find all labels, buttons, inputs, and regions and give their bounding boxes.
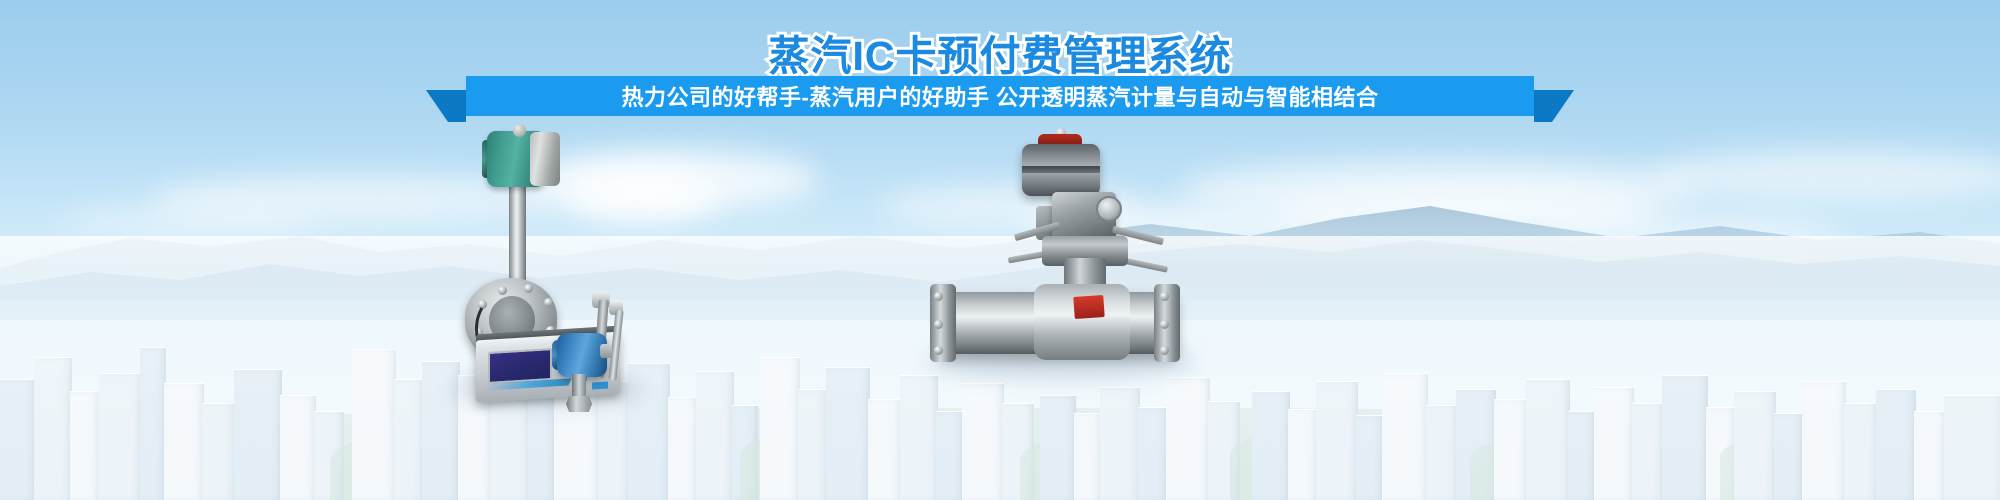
actuator-band [1022, 166, 1100, 173]
pressure-gauge [1096, 196, 1122, 222]
valve-bolt [1160, 346, 1169, 355]
valve-bolt [934, 292, 943, 301]
subtitle-text: 热力公司的好帮手-蒸汽用户的好助手 公开透明蒸汽计量与自动与智能相结合 [622, 80, 1379, 112]
promo-banner: 蒸汽IC卡预付费管理系统 蒸汽IC卡预付费管理系统 热力公司的好帮手-蒸汽用户的… [0, 0, 2000, 500]
valve-bolt [934, 320, 943, 329]
valve-bolt [1160, 320, 1169, 329]
valve-warning-tag [1073, 295, 1104, 319]
vortex-flowmeter-knob [513, 124, 526, 137]
control-box-lcd-screen [488, 348, 552, 384]
ribbon-tail-left [426, 90, 466, 122]
flange-bolt [544, 298, 553, 307]
valve-bolt [1160, 292, 1169, 301]
subtitle-ribbon: 热力公司的好帮手-蒸汽用户的好助手 公开透明蒸汽计量与自动与智能相结合 [0, 76, 2000, 122]
page-title: 蒸汽IC卡预付费管理系统 [0, 22, 2000, 82]
control-box-badge [592, 382, 608, 390]
ribbon-body: 热力公司的好帮手-蒸汽用户的好助手 公开透明蒸汽计量与自动与智能相结合 [466, 76, 1534, 116]
valve-bolt [934, 346, 943, 355]
ribbon-tail-right [1534, 90, 1574, 122]
pressure-transmitter-conduit [600, 344, 612, 358]
vortex-flowmeter-cap [530, 132, 560, 186]
pressure-transmitter-hex-nut [566, 396, 592, 412]
valve-main-body [1034, 284, 1130, 360]
